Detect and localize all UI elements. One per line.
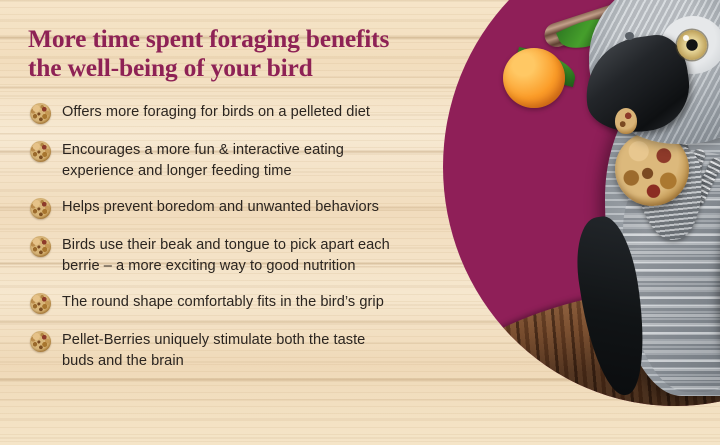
list-item: The round shape comfortably fits in the … bbox=[30, 292, 442, 314]
parrot-photo-circle bbox=[443, 0, 720, 406]
list-item-text: The round shape comfortably fits in the … bbox=[62, 292, 384, 313]
copy-column: More time spent foraging benefits the we… bbox=[0, 0, 450, 445]
pellet-berry-icon bbox=[30, 103, 51, 124]
pellet-berry-in-beak bbox=[615, 108, 637, 134]
parrot-eye bbox=[677, 30, 707, 60]
list-item-line-1: Encourages a more fun & interactive eati… bbox=[62, 142, 344, 158]
list-item-line-1: The round shape comfortably fits in the … bbox=[62, 294, 384, 310]
list-item-line-1: Pellet-Berries uniquely stimulate both t… bbox=[62, 332, 365, 348]
list-item: Helps prevent boredom and unwanted behav… bbox=[30, 197, 442, 219]
pellet-berry-icon bbox=[30, 198, 51, 219]
list-item-text: Birds use their beak and tongue to pick … bbox=[62, 235, 390, 277]
product-benefits-banner: More time spent foraging benefits the we… bbox=[0, 0, 720, 445]
page-title: More time spent foraging benefits the we… bbox=[28, 24, 440, 82]
african-grey-parrot bbox=[551, 0, 720, 406]
list-item: Birds use their beak and tongue to pick … bbox=[30, 235, 442, 277]
headline-line-1: More time spent foraging benefits bbox=[28, 24, 389, 53]
list-item-line-1: Helps prevent boredom and unwanted behav… bbox=[62, 199, 379, 215]
list-item: Pellet-Berries uniquely stimulate both t… bbox=[30, 330, 442, 372]
list-item-line-2: experience and longer feeding time bbox=[62, 163, 292, 179]
list-item-line-1: Offers more foraging for birds on a pell… bbox=[62, 104, 370, 120]
list-item-text: Pellet-Berries uniquely stimulate both t… bbox=[62, 330, 365, 372]
benefits-list: Offers more foraging for birds on a pell… bbox=[30, 102, 442, 386]
list-item-line-2: buds and the brain bbox=[62, 353, 184, 369]
list-item-text: Offers more foraging for birds on a pell… bbox=[62, 102, 370, 123]
list-item: Offers more foraging for birds on a pell… bbox=[30, 102, 442, 124]
list-item-line-1: Birds use their beak and tongue to pick … bbox=[62, 237, 390, 253]
list-item-text: Encourages a more fun & interactive eati… bbox=[62, 140, 344, 182]
pellet-berry-icon bbox=[30, 236, 51, 257]
pellet-berry-icon bbox=[30, 141, 51, 162]
list-item-line-2: berrie – a more exciting way to good nut… bbox=[62, 258, 356, 274]
pellet-berry-icon bbox=[30, 293, 51, 314]
list-item-text: Helps prevent boredom and unwanted behav… bbox=[62, 197, 379, 218]
photo-scene bbox=[443, 0, 720, 406]
parrot-head bbox=[589, 0, 720, 144]
parrot-nostril bbox=[625, 32, 634, 40]
headline-line-2: the well-being of your bird bbox=[28, 53, 440, 82]
pellet-berry-icon bbox=[30, 331, 51, 352]
list-item: Encourages a more fun & interactive eati… bbox=[30, 140, 442, 182]
